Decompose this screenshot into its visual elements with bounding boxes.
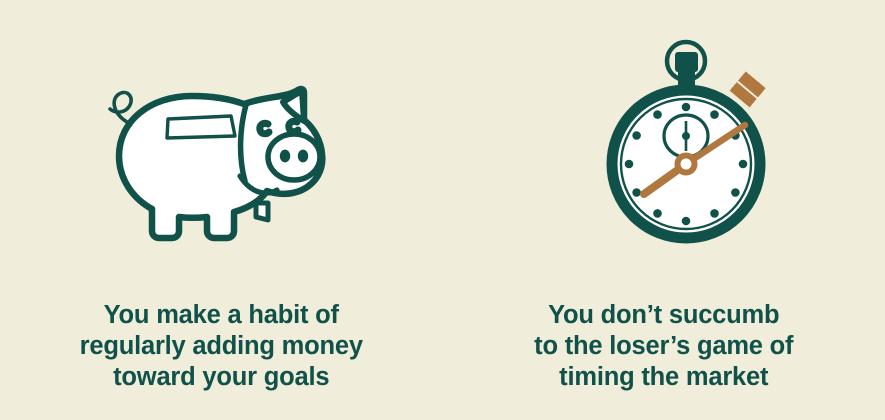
panel-market-timing: You don’t succumb to the loser’s game of…: [443, 0, 885, 420]
hour-marker: [632, 188, 641, 197]
pig-tail: [110, 92, 131, 122]
caption-market-timing: You don’t succumb to the loser’s game of…: [443, 300, 885, 393]
caption-line: You make a habit of: [0, 300, 443, 331]
infographic-board: You make a habit of regularly adding mon…: [0, 0, 885, 420]
hour-marker: [624, 160, 633, 169]
stopwatch-crown-stem: [678, 72, 695, 86]
panel-saving-habit: You make a habit of regularly adding mon…: [0, 0, 443, 420]
hour-marker: [681, 217, 690, 226]
hour-marker: [653, 209, 662, 218]
stopwatch-subdial-pivot: [682, 132, 690, 140]
pig-snout: [268, 134, 320, 180]
hour-marker: [710, 209, 719, 218]
caption-line: toward your goals: [0, 362, 443, 393]
caption-line: timing the market: [443, 362, 885, 393]
caption-line: regularly adding money: [0, 331, 443, 362]
stopwatch-icon: [592, 39, 792, 249]
hour-marker: [710, 110, 719, 119]
piggy-bank-art-slot: [0, 0, 443, 300]
pig-nostril-left: [280, 149, 290, 162]
hour-marker: [653, 110, 662, 119]
caption-line: to the loser’s game of: [443, 331, 885, 362]
pig-coin-slot: [167, 116, 235, 138]
hour-marker: [681, 103, 690, 112]
pig-hind-leg: [256, 203, 268, 220]
hour-marker: [632, 131, 641, 140]
caption-line: You don’t succumb: [443, 300, 885, 331]
hour-marker: [731, 188, 740, 197]
stopwatch-center-pivot: [677, 156, 694, 173]
piggy-bank-icon: [88, 64, 348, 249]
caption-saving-habit: You make a habit of regularly adding mon…: [0, 300, 443, 393]
hour-marker: [738, 160, 747, 169]
pig-nostril-right: [298, 149, 308, 162]
stopwatch-crown-button: [675, 52, 698, 72]
stopwatch-art-slot: [443, 0, 885, 300]
